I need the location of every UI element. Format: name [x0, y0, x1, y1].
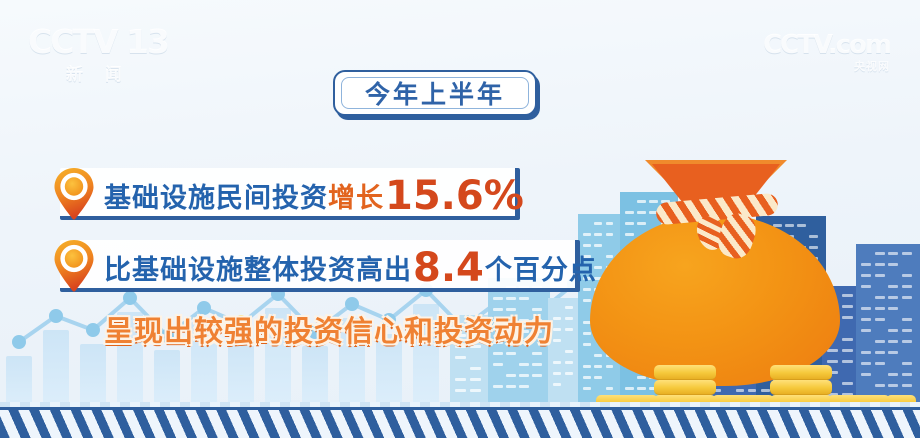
gold-coin: [654, 365, 716, 380]
skyline-window: [493, 363, 503, 366]
bullet-2-suffix: 个百分点: [485, 248, 597, 287]
skyline-window: [519, 374, 529, 377]
skyline-window: [532, 352, 542, 355]
title-badge-label: 今年上半年: [365, 75, 505, 111]
map-pin-icon: [52, 166, 96, 222]
skyline-window: [842, 316, 853, 319]
skyline-window: [532, 374, 542, 377]
gold-coin: [654, 380, 716, 395]
background-bar: [302, 346, 328, 408]
skyline-window: [553, 372, 561, 375]
skyline-window: [553, 317, 561, 320]
skyline-window: [565, 372, 573, 375]
bottom-striped-band: [0, 407, 920, 438]
skyline-window: [519, 363, 529, 366]
gold-coins-icon: [596, 320, 916, 410]
skyline-window: [902, 296, 912, 299]
bullet-row-2: 比基础设施整体投资高出 8.4 个百分点: [0, 240, 597, 292]
skyline-window: [902, 252, 912, 255]
skyline-window: [455, 389, 466, 392]
skyline-window: [861, 263, 871, 266]
skyline-window: [565, 361, 573, 364]
cctv13-watermark-label: CCTV 13: [28, 26, 168, 58]
skyline-window: [519, 385, 529, 388]
skyline-window: [470, 367, 481, 370]
title-badge: 今年上半年: [333, 70, 537, 116]
gold-coin: [770, 365, 832, 380]
background-bar: [43, 330, 69, 408]
bullet-row-1: 基础设施民间投资 增长 15.6%: [0, 168, 525, 220]
skyline-window: [493, 385, 503, 388]
skyline-window: [553, 328, 561, 331]
skyline-window: [493, 297, 503, 300]
skyline-window: [506, 385, 516, 388]
skyline-window: [470, 378, 481, 381]
background-data-point: [12, 335, 26, 349]
skyline-window: [888, 296, 898, 299]
skyline-window: [506, 297, 516, 300]
skyline-window: [506, 352, 516, 355]
skyline-window: [493, 352, 503, 355]
bullet-2-value: 8.4: [412, 245, 485, 291]
skyline-window: [902, 274, 912, 277]
cctv13-watermark: CCTV 13 新 闻: [28, 26, 168, 85]
skyline-window: [470, 389, 481, 392]
skyline-window: [902, 285, 912, 288]
skyline-window: [532, 363, 542, 366]
skyline-window: [553, 361, 561, 364]
background-data-point: [49, 309, 63, 323]
background-bar: [6, 356, 32, 408]
skyline-window: [875, 263, 885, 266]
skyline-window: [565, 306, 573, 309]
skyline-window: [455, 356, 466, 359]
background-data-point: [123, 291, 137, 305]
gold-coin: [770, 380, 832, 395]
skyline-window: [553, 383, 561, 386]
background-bar: [154, 350, 180, 408]
skyline-window: [583, 387, 591, 390]
infographic-canvas: CCTV 13 新 闻 CCTV.com 央视网 今年上半年 基础设: [0, 0, 920, 438]
skyline-window: [519, 297, 529, 300]
cctv-com-watermark: CCTV.com 央视网: [763, 32, 890, 74]
skyline-window: [861, 274, 871, 277]
cctv-com-label: CCTV.com: [763, 32, 890, 58]
skyline-window: [875, 252, 885, 255]
skyline-window: [875, 296, 885, 299]
map-pin-icon: [52, 238, 96, 294]
skyline-window: [455, 378, 466, 381]
skyline-window: [506, 374, 516, 377]
background-data-point: [86, 323, 100, 337]
skyline-window: [565, 350, 573, 353]
skyline-window: [888, 263, 898, 266]
skyline-window: [875, 274, 885, 277]
skyline-window: [888, 285, 898, 288]
skyline-window: [842, 294, 853, 297]
skyline-window: [553, 339, 561, 342]
skyline-window: [861, 285, 871, 288]
conclusion-text: 呈现出较强的投资信心和投资动力: [104, 308, 554, 350]
skyline-window: [565, 328, 573, 331]
cctv13-news-label: 新 闻: [28, 60, 168, 85]
background-bar: [80, 344, 106, 408]
skyline-window: [888, 307, 898, 310]
skyline-window: [842, 305, 853, 308]
skyline-window: [888, 252, 898, 255]
skyline-window: [875, 307, 885, 310]
bullet-1-primary: 基础设施民间投资: [104, 176, 328, 215]
bullet-2-primary: 比基础设施整体投资高出: [104, 248, 412, 287]
skyline-window: [565, 317, 573, 320]
bullet-1-accent: 增长: [328, 176, 384, 215]
bullet-1-value: 15.6%: [384, 173, 525, 219]
yangshiwang-label: 央视网: [763, 58, 890, 74]
skyline-window: [861, 307, 871, 310]
